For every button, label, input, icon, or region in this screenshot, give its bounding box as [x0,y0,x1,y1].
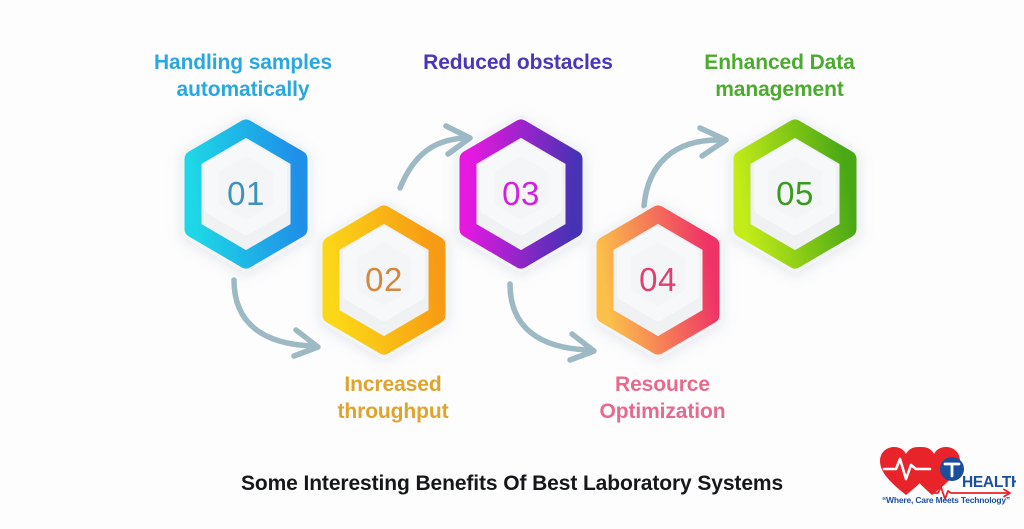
healthray-logo[interactable]: HEALTHRAY “Where, Care Meets Technology” [876,443,1016,515]
step-number-04: 04 [578,200,738,360]
step-number-01: 01 [166,114,326,274]
step-node-04[interactable]: 04 [578,200,738,360]
step-label-03: Reduced obstacles [400,50,636,77]
logo-tagline: “Where, Care Meets Technology” [876,495,1016,505]
step-label-05: Enhanced Data management [672,50,887,103]
step-number-05: 05 [715,114,875,274]
step-label-04: Resource Optimization [560,372,765,425]
step-label-01: Handling samples automatically [118,50,368,103]
step-node-03[interactable]: 03 [441,114,601,274]
step-number-02: 02 [304,200,464,360]
step-label-02: Increased throughput [288,372,498,425]
step-node-02[interactable]: 02 [304,200,464,360]
heart-pulse-icon: HEALTHRAY [876,443,1016,501]
step-number-03: 03 [441,114,601,274]
step-node-05[interactable]: 05 [715,114,875,274]
logo-wordmark: HEALTHRAY [962,474,1016,491]
infographic-canvas: Handling samples automatically Reduced o… [0,0,1024,529]
page-title: Some Interesting Benefits Of Best Labora… [0,472,1024,496]
step-node-01[interactable]: 01 [166,114,326,274]
